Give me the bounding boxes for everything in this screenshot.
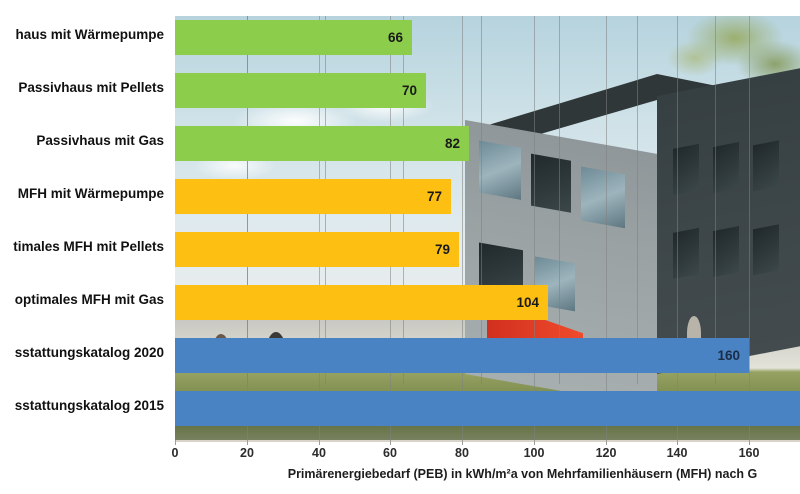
- plot-area: 66 70 82 77 79 104 160: [175, 16, 800, 440]
- tick-mark-120: [606, 440, 607, 445]
- tick-mark-20: [247, 440, 248, 445]
- bar-7[interactable]: [175, 391, 800, 426]
- building-window: [753, 140, 779, 191]
- building-window: [713, 142, 739, 193]
- tick-mark-140: [677, 440, 678, 445]
- building-window: [581, 166, 625, 228]
- tick-label-100: 100: [514, 447, 554, 460]
- bar-0[interactable]: 66: [175, 20, 412, 55]
- bar-value-5: 104: [516, 296, 548, 310]
- x-axis-title: Primärenergiebedarf (PEB) in kWh/m²a von…: [175, 468, 800, 481]
- bar-value-3: 77: [427, 190, 451, 204]
- tick-mark-60: [390, 440, 391, 445]
- bar-value-1: 70: [402, 84, 426, 98]
- primary-energy-demand-bar-chart: haus mit Wärmepumpe Passivhaus mit Pelle…: [0, 0, 800, 494]
- facade-mullion: [715, 16, 716, 384]
- bar-5[interactable]: 104: [175, 285, 548, 320]
- category-label-6: sstattungskatalog 2020: [0, 346, 164, 360]
- category-label-3: MFH mit Wärmepumpe: [0, 187, 164, 201]
- tick-label-80: 80: [442, 447, 482, 460]
- facade-mullion: [637, 16, 638, 384]
- gridline-120: [606, 16, 607, 440]
- x-axis-ticks: 0 20 40 60 80 100 120 140 160: [0, 440, 800, 466]
- gridline-140: [677, 16, 678, 440]
- category-label-1: Passivhaus mit Pellets: [0, 81, 164, 95]
- tick-label-0: 0: [155, 447, 195, 460]
- building-window: [479, 140, 521, 199]
- category-label-4: timales MFH mit Pellets: [0, 240, 164, 254]
- building-window: [531, 154, 571, 213]
- bar-1[interactable]: 70: [175, 73, 426, 108]
- bar-value-6: 160: [717, 349, 749, 363]
- category-label-2: Passivhaus mit Gas: [0, 134, 164, 148]
- x-axis-title-text: Primärenergiebedarf (PEB) in kWh/m²a von…: [288, 468, 758, 481]
- building-side-facade: [657, 67, 800, 374]
- bar-4[interactable]: 79: [175, 232, 459, 267]
- gridline-160: [749, 16, 750, 440]
- gridline-80: [462, 16, 463, 440]
- bar-2[interactable]: 82: [175, 126, 469, 161]
- tick-label-60: 60: [370, 447, 410, 460]
- category-label-0: haus mit Wärmepumpe: [0, 28, 164, 42]
- tick-label-20: 20: [227, 447, 267, 460]
- bar-6[interactable]: 160: [175, 338, 749, 373]
- category-label-5: optimales MFH mit Gas: [0, 293, 164, 307]
- building-window: [753, 224, 779, 275]
- facade-mullion: [559, 16, 560, 384]
- category-label-7: sstattungskatalog 2015: [0, 399, 164, 413]
- bar-value-0: 66: [388, 31, 412, 45]
- tick-label-160: 160: [729, 447, 769, 460]
- bar-3[interactable]: 77: [175, 179, 451, 214]
- tick-mark-0: [175, 440, 176, 445]
- category-axis-labels: haus mit Wärmepumpe Passivhaus mit Pelle…: [0, 0, 172, 440]
- tick-mark-40: [319, 440, 320, 445]
- facade-mullion: [481, 16, 482, 384]
- tick-label-140: 140: [657, 447, 697, 460]
- tick-mark-100: [534, 440, 535, 445]
- tick-mark-160: [749, 440, 750, 445]
- building-window: [713, 226, 739, 277]
- tick-mark-80: [462, 440, 463, 445]
- tick-label-40: 40: [299, 447, 339, 460]
- bar-value-4: 79: [435, 243, 459, 257]
- bar-value-2: 82: [445, 137, 469, 151]
- gridline-100: [534, 16, 535, 440]
- tick-label-120: 120: [586, 447, 626, 460]
